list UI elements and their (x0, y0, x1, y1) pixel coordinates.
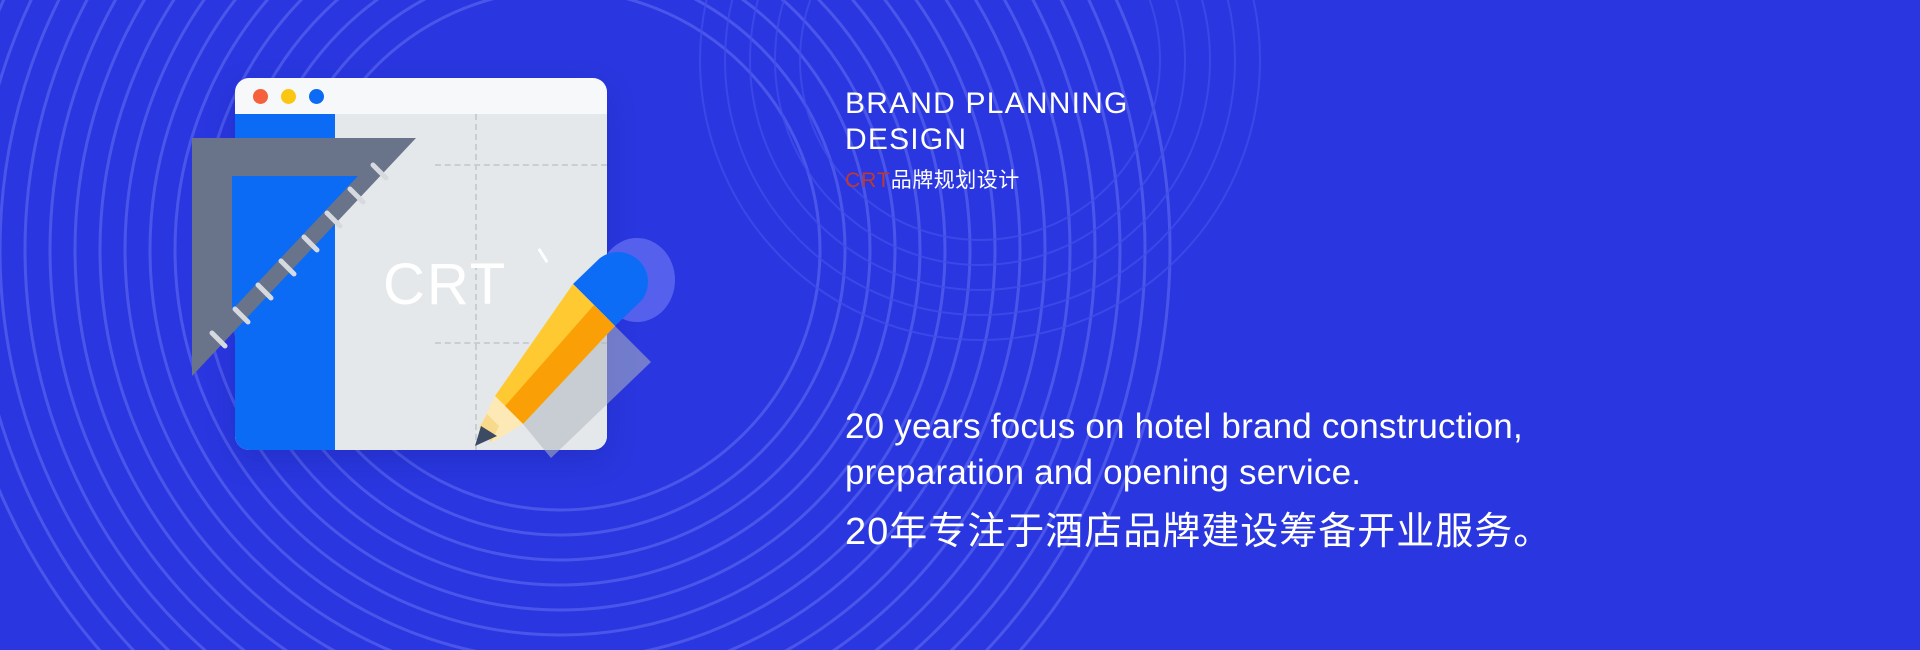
window-control-dots (253, 89, 324, 104)
triangle-ruler-icon (190, 136, 420, 381)
tagline-block: 20 years focus on hotel brand constructi… (845, 404, 1675, 558)
pencil-icon (465, 228, 685, 458)
minimize-dot-icon[interactable] (281, 89, 296, 104)
window-title-bar (235, 78, 607, 114)
pencil-svg (465, 228, 685, 458)
ruler-svg (190, 136, 420, 381)
heading-subtitle-cn: CRT品牌规划设计 (845, 164, 1485, 194)
heading-block: BRAND PLANNING DESIGN CRT品牌规划设计 (845, 86, 1485, 194)
tagline-cn: 20年专注于酒店品牌建设筹备开业服务。 (845, 506, 1675, 558)
tagline-en-line-1: 20 years focus on hotel brand constructi… (845, 404, 1675, 450)
close-dot-icon[interactable] (253, 89, 268, 104)
tagline-en-line-2: preparation and opening service. (845, 450, 1675, 496)
heading-line-1: BRAND PLANNING (845, 86, 1485, 122)
heading-subtitle-cn-text: 品牌规划设计 (891, 169, 1020, 192)
heading-line-2: DESIGN (845, 122, 1485, 158)
brand-abbrev-label: CRT (845, 169, 891, 192)
guide-line-h (435, 164, 607, 166)
maximize-dot-icon[interactable] (309, 89, 324, 104)
hero-illustration: CRT (190, 78, 690, 498)
brand-banner: CRT (0, 0, 1920, 650)
